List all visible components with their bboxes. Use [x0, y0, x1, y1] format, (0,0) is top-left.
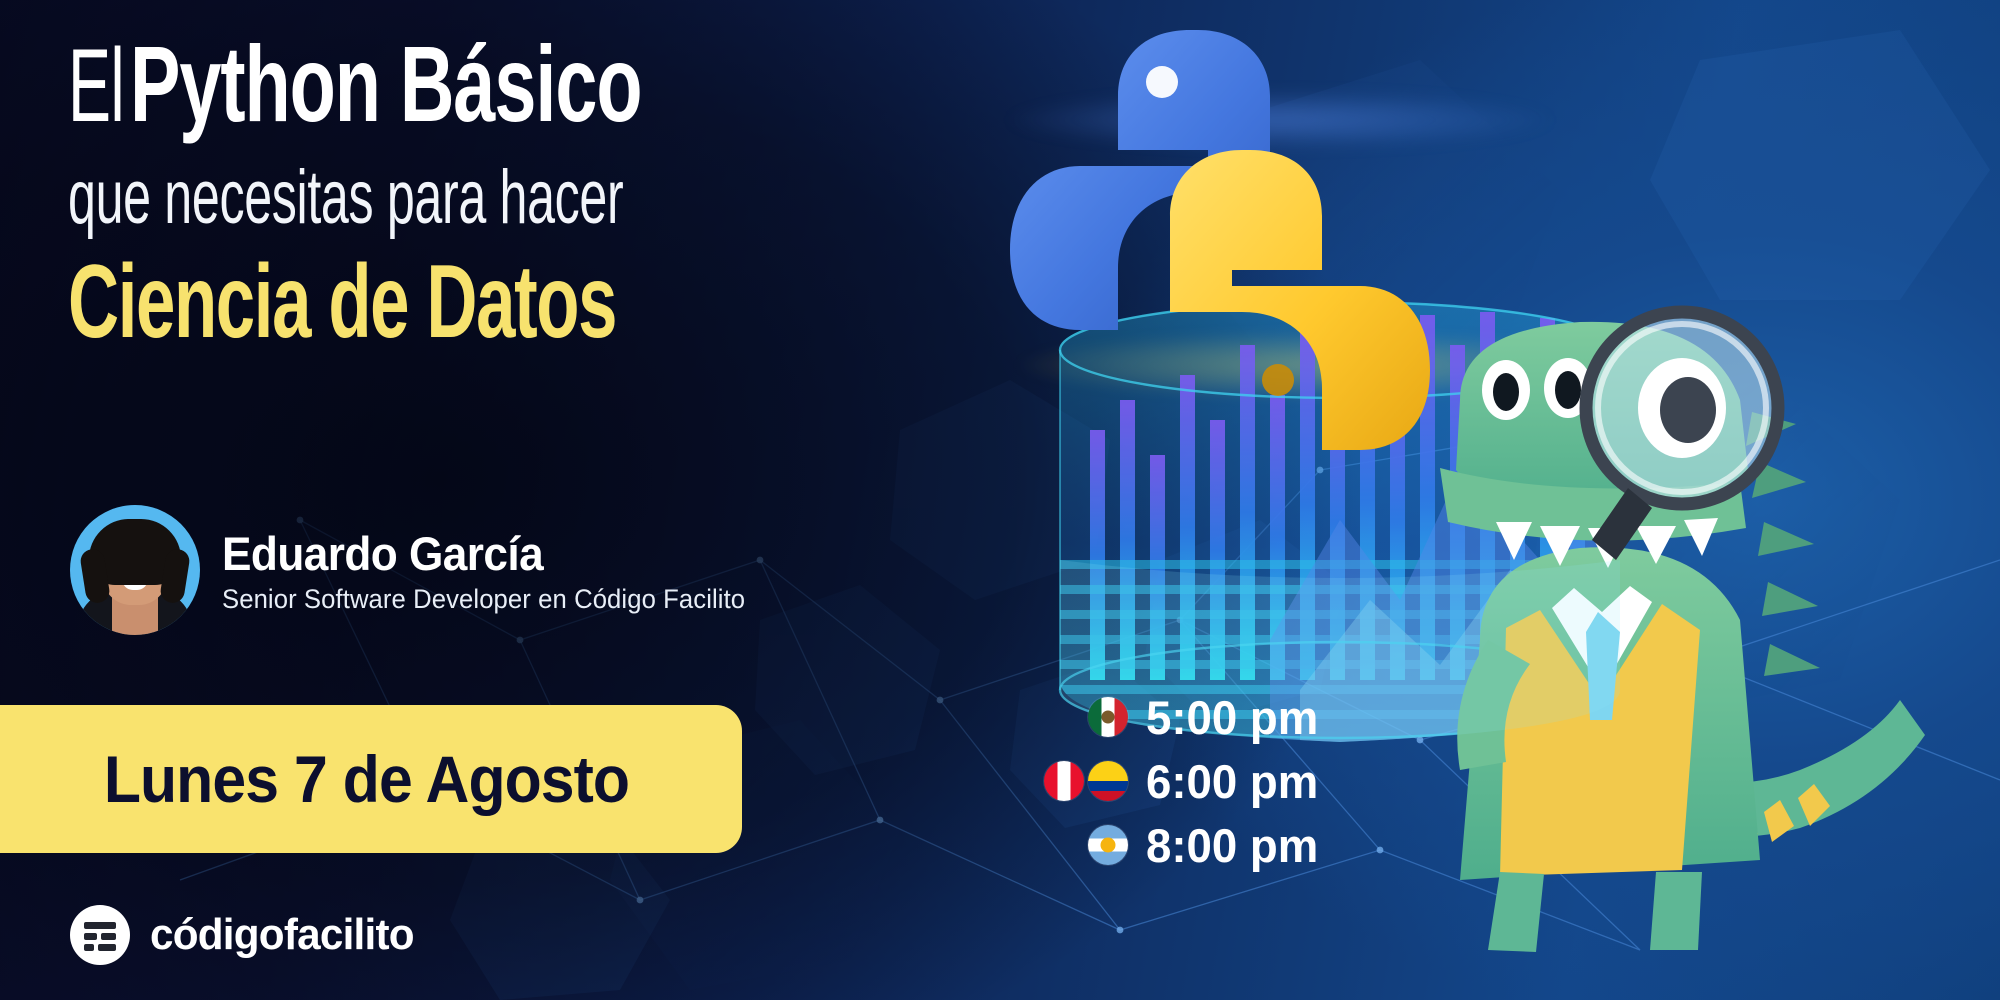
peru-flag-icon	[1044, 761, 1084, 801]
content-panel: ElPython Básico que necesitas para hacer…	[0, 0, 1080, 1000]
brand-logo: códigofacilito	[70, 905, 425, 965]
date-banner: Lunes 7 de Agosto	[0, 705, 742, 853]
brand-name: códigofacilito	[150, 910, 414, 960]
time-row: 6:00 pm	[1020, 752, 1324, 810]
time-label: 5:00 pm	[1146, 690, 1318, 745]
speaker-name: Eduardo García	[222, 529, 740, 578]
date-text: Lunes 7 de Agosto	[103, 741, 628, 817]
speaker-block: Eduardo García Senior Software Developer…	[70, 505, 773, 635]
time-row: 8:00 pm	[1020, 816, 1324, 874]
speaker-text: Eduardo García Senior Software Developer…	[222, 525, 773, 614]
avatar-hair	[89, 519, 181, 585]
argentina-flag-icon	[1088, 825, 1128, 865]
colombia-flag-icon	[1088, 761, 1128, 801]
speaker-role: Senior Software Developer en Código Faci…	[222, 584, 745, 615]
time-row: 5:00 pm	[1020, 688, 1324, 746]
times-list: 5:00 pm 6:00 pm 8:00 pm	[1020, 688, 1324, 880]
mexico-flag-icon	[1088, 697, 1128, 737]
flag-group	[1020, 697, 1128, 737]
code-lines-icon	[70, 905, 130, 965]
headline-line-1: ElPython Básico	[68, 30, 1028, 138]
flag-group	[1020, 825, 1128, 865]
flag-group	[1020, 761, 1128, 801]
time-label: 6:00 pm	[1146, 754, 1318, 809]
headline: ElPython Básico que necesitas para hacer…	[68, 30, 1028, 362]
headline-python-basico: Python Básico	[130, 30, 641, 138]
headline-line-3: Ciencia de Datos	[68, 243, 721, 362]
time-label: 8:00 pm	[1146, 818, 1318, 873]
headline-el: El	[68, 34, 124, 138]
headline-line-2: que necesitas para hacer	[68, 154, 702, 241]
avatar	[70, 505, 200, 635]
